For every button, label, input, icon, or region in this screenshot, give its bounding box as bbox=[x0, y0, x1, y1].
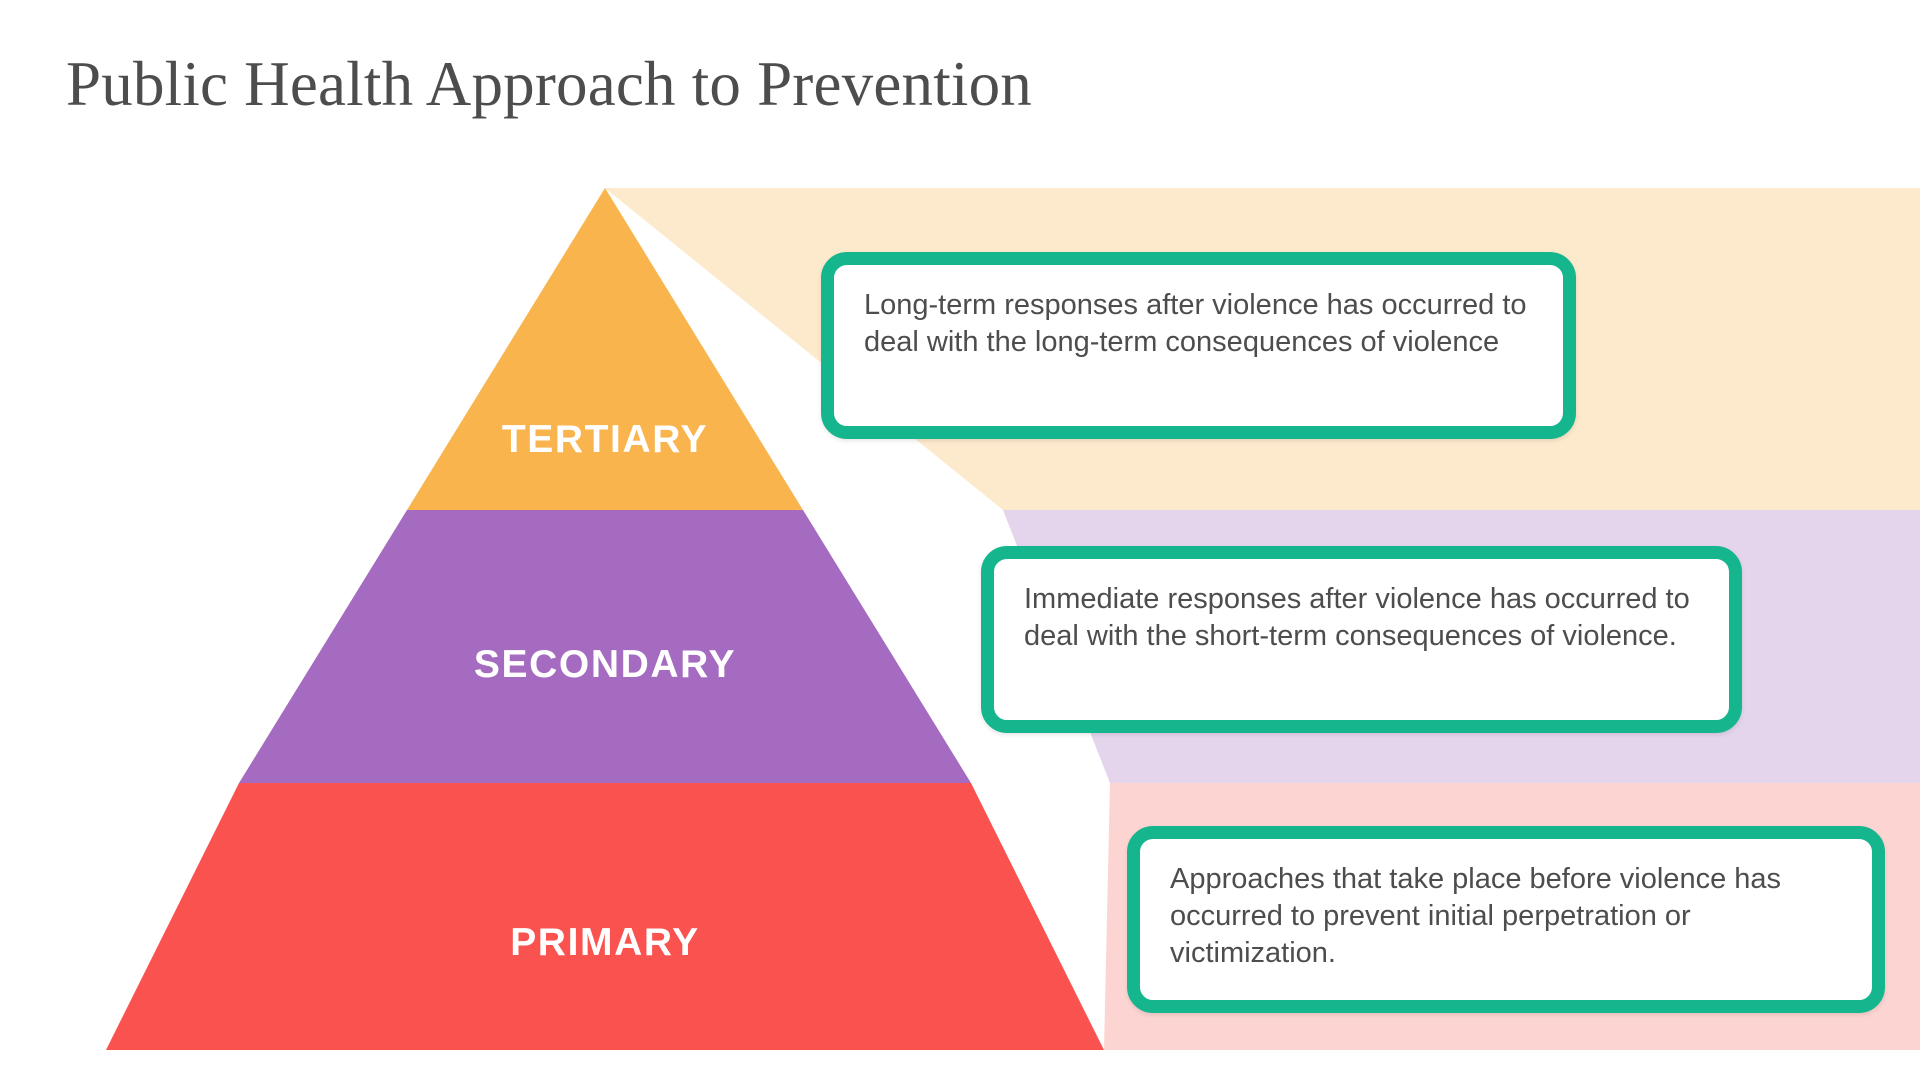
pyramid-label-primary: PRIMARY bbox=[405, 921, 805, 965]
tertiary-callout[interactable]: Long-term responses after violence has o… bbox=[821, 252, 1576, 439]
pyramid-label-tertiary: TERTIARY bbox=[405, 418, 805, 462]
page-title: Public Health Approach to Prevention bbox=[66, 48, 1032, 120]
secondary-callout-text: Immediate responses after violence has o… bbox=[994, 559, 1729, 677]
pyramid-label-secondary: SECONDARY bbox=[405, 643, 805, 687]
tertiary-callout-text: Long-term responses after violence has o… bbox=[834, 265, 1563, 383]
primary-callout-text: Approaches that take place before violen… bbox=[1140, 839, 1872, 993]
secondary-callout[interactable]: Immediate responses after violence has o… bbox=[981, 546, 1742, 733]
slide-canvas: TERTIARY SECONDARY PRIMARY Long-term res… bbox=[0, 0, 1920, 1080]
primary-callout[interactable]: Approaches that take place before violen… bbox=[1127, 826, 1885, 1013]
